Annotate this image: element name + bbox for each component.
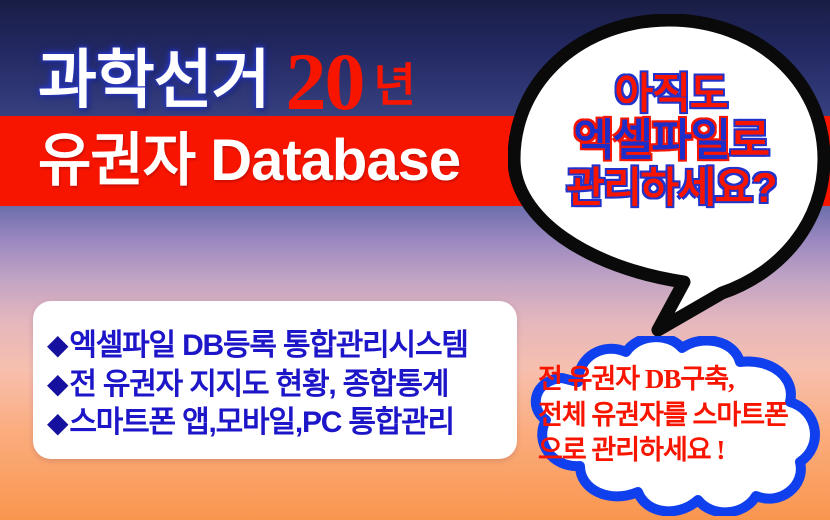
cloud-callout-text: 전 유권자 DB구축, 전체 유권자를 스마트폰 으로 관리하세요 ! [524, 362, 816, 468]
list-item: ◆ 엑셀파일 DB등록 통합관리시스템 [47, 328, 517, 365]
speech-line-2: 엑셀파일로 [574, 118, 769, 164]
subtitle-text: 유권자 Database [38, 132, 460, 190]
diamond-bullet-icon: ◆ [47, 331, 67, 359]
cloud-line-3: 으로 관리하세요 ! [538, 433, 724, 468]
speech-line-1: 아직도 [615, 72, 728, 116]
subtitle-row: 유권자 Database [0, 118, 540, 204]
diamond-bullet-icon: ◆ [47, 370, 67, 398]
cloud-callout: 전 유권자 DB구축, 전체 유권자를 스마트폰 으로 관리하세요 ! [506, 336, 830, 516]
headline-korean: 과학선거 [38, 48, 270, 112]
list-item: ◆ 스마트폰 앱,모바일,PC 통합관리 [47, 405, 517, 442]
feature-list-box: ◆ 엑셀파일 DB등록 통합관리시스템 ◆ 전 유권자 지지도 현황, 종합통계… [33, 301, 517, 459]
speech-line-2-blue: 엑셀파일 [574, 116, 730, 165]
list-item: ◆ 전 유권자 지지도 현황, 종합통계 [47, 367, 517, 404]
cloud-line-1: 전 유권자 DB구축, [538, 362, 734, 397]
speech-bubble-text: 아직도 엑셀파일로 관리하세요? [530, 72, 812, 210]
list-item-label: 스마트폰 앱,모바일,PC 통합관리 [69, 405, 454, 442]
diamond-bullet-icon: ◆ [47, 409, 67, 437]
promo-poster: 과학선거 20 년 유권자 Database ◆ 엑셀파일 DB등록 통합관리시… [0, 0, 830, 520]
headline-year-unit: 년 [374, 62, 416, 108]
speech-line-2-red: 로 [729, 116, 768, 165]
headline-number: 20 [286, 46, 364, 118]
list-item-label: 전 유권자 지지도 현황, 종합통계 [69, 367, 448, 404]
speech-bubble: 아직도 엑셀파일로 관리하세요? [508, 14, 830, 344]
speech-line-3: 관리하세요? [566, 166, 776, 210]
cloud-line-2: 전체 유권자를 스마트폰 [538, 398, 788, 433]
headline-row: 과학선거 20 년 [0, 16, 540, 112]
list-item-label: 엑셀파일 DB등록 통합관리시스템 [69, 328, 467, 365]
